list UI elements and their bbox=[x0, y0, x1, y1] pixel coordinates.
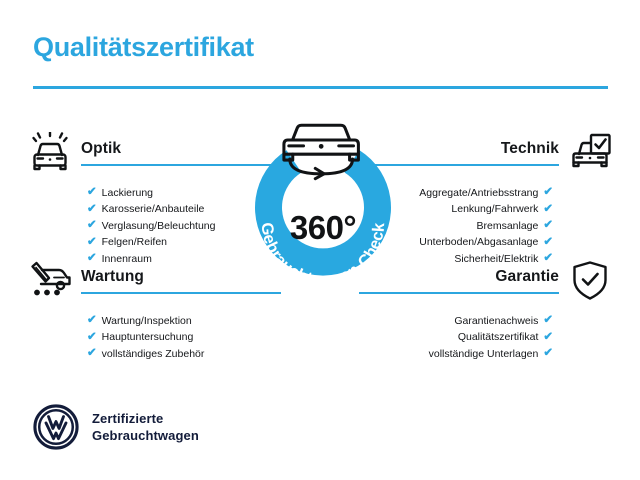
badge-360-check: Gebrauchtwagen-Check 360° bbox=[228, 112, 418, 302]
car-shine-icon bbox=[25, 130, 75, 176]
check-icon: ✔ bbox=[87, 204, 97, 216]
list-item-label: Qualitätszertifikat bbox=[458, 329, 539, 345]
check-icon: ✔ bbox=[87, 348, 97, 360]
check-icon: ✔ bbox=[87, 315, 97, 327]
footer-line-1: Zertifizierte bbox=[92, 410, 199, 427]
footer-text: Zertifizierte Gebrauchtwagen bbox=[92, 410, 199, 444]
list-item-label: vollständige Unterlagen bbox=[429, 346, 539, 362]
volkswagen-logo bbox=[33, 404, 79, 450]
check-icon: ✔ bbox=[543, 332, 553, 344]
check-icon: ✔ bbox=[87, 237, 97, 249]
list-item: ✔Hauptuntersuchung bbox=[87, 329, 281, 345]
check-icon: ✔ bbox=[543, 220, 553, 232]
list-item-label: Lenkung/Fahrwerk bbox=[451, 201, 538, 217]
car-checkbox-icon bbox=[565, 130, 615, 176]
list-item-label: Felgen/Reifen bbox=[102, 234, 167, 250]
list-item-label: Hauptuntersuchung bbox=[102, 329, 194, 345]
check-icon: ✔ bbox=[543, 348, 553, 360]
checklist-wartung: ✔Wartung/Inspektion ✔Hauptuntersuchung ✔… bbox=[87, 313, 281, 362]
list-item: ✔Wartung/Inspektion bbox=[87, 313, 281, 329]
footer-line-2: Gebrauchtwagen bbox=[92, 427, 199, 444]
list-item-label: Garantienachweis bbox=[454, 313, 538, 329]
checklist-garantie: Garantienachweis✔ Qualitätszertifikat✔ v… bbox=[359, 313, 553, 362]
list-item-label: Wartung/Inspektion bbox=[102, 313, 192, 329]
certificate-page: Qualitätszertifikat Optik bbox=[0, 0, 640, 480]
check-icon: ✔ bbox=[543, 187, 553, 199]
list-item-label: Bremsanlage bbox=[476, 218, 538, 234]
list-item: ✔vollständiges Zubehör bbox=[87, 346, 281, 362]
badge-center-label: 360° bbox=[228, 209, 418, 247]
footer-brand: Zertifizierte Gebrauchtwagen bbox=[33, 404, 199, 450]
check-icon: ✔ bbox=[543, 237, 553, 249]
shield-check-icon bbox=[565, 258, 615, 304]
check-icon: ✔ bbox=[543, 204, 553, 216]
car-wrench-icon bbox=[25, 258, 75, 304]
check-icon: ✔ bbox=[87, 220, 97, 232]
check-icon: ✔ bbox=[87, 187, 97, 199]
list-item-label: Aggregate/Antriebsstrang bbox=[419, 185, 538, 201]
list-item-label: Karosserie/Anbauteile bbox=[102, 201, 205, 217]
badge-ring: Gebrauchtwagen-Check bbox=[228, 112, 418, 302]
header-divider bbox=[33, 86, 608, 89]
page-title: Qualitätszertifikat bbox=[33, 32, 254, 63]
check-icon: ✔ bbox=[543, 315, 553, 327]
list-item-label: vollständiges Zubehör bbox=[102, 346, 205, 362]
check-icon: ✔ bbox=[87, 332, 97, 344]
list-item: Garantienachweis✔ bbox=[359, 313, 553, 329]
list-item-label: Verglasung/Beleuchtung bbox=[102, 218, 216, 234]
list-item-label: Lackierung bbox=[102, 185, 153, 201]
list-item-label: Unterboden/Abgasanlage bbox=[419, 234, 538, 250]
list-item: vollständige Unterlagen✔ bbox=[359, 346, 553, 362]
list-item: Qualitätszertifikat✔ bbox=[359, 329, 553, 345]
